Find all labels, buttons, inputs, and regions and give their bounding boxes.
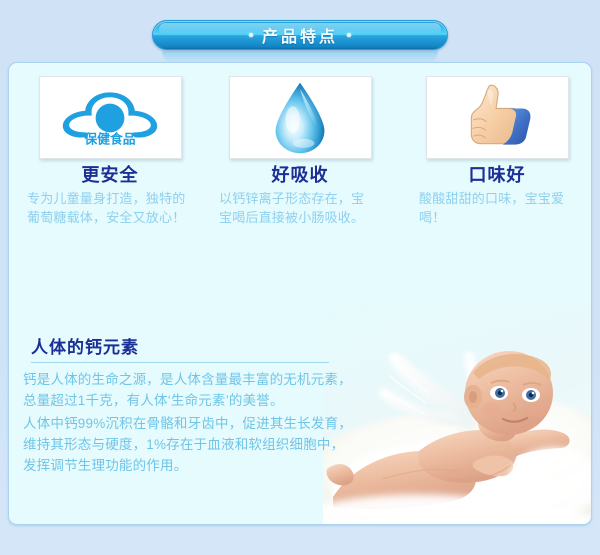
- feature-description: 酸酸甜甜的口味，宝宝爱喝！: [419, 190, 579, 228]
- feature-title: 更安全: [17, 166, 203, 186]
- feature-list: 保健食品 更安全 专为儿童量身打造，独特的葡萄糖载体，安全又放心！: [9, 63, 592, 227]
- feature-title: 好吸收: [203, 166, 397, 186]
- feature-thumbnail: [229, 76, 372, 159]
- feature-title: 口味好: [403, 166, 591, 186]
- feature-description: 以钙锌离子形态存在，宝宝喝后直接被小肠吸收。: [219, 190, 377, 228]
- bullet-dot-left-icon: [249, 33, 253, 37]
- feature-card-safety: 保健食品 更安全 专为儿童量身打造，独特的葡萄糖载体，安全又放心！: [9, 63, 203, 227]
- feature-card-taste: 口味好 酸酸甜甜的口味，宝宝爱喝！: [397, 63, 591, 227]
- bullet-dot-right-icon: [347, 33, 351, 37]
- article-paragraph: 人体中钙99%沉积在骨骼和牙齿中，促进其生长发育，维持其形态与硬度，1%存在于血…: [23, 414, 353, 477]
- blue-hat-health-food-logo-icon: 保健食品: [58, 86, 162, 150]
- feature-description: 专为儿童量身打造，独特的葡萄糖载体，安全又放心！: [27, 190, 187, 228]
- feature-card-absorption: 好吸收 以钙锌离子形态存在，宝宝喝后直接被小肠吸收。: [203, 63, 397, 227]
- baby-photo: [323, 301, 591, 525]
- banner-title: 产品特点: [262, 23, 338, 47]
- product-feature-page: 产品特点 保健食品 更安全: [0, 0, 600, 555]
- logo-caption: 保健食品: [83, 131, 135, 146]
- article-paragraph: 钙是人体的生命之源，是人体含量最丰富的无机元素，总量超过1千克，有人体‘生命元素…: [23, 370, 353, 412]
- feature-thumbnail: 保健食品: [39, 76, 182, 159]
- feature-thumbnail: [426, 76, 569, 159]
- title-underline: [31, 362, 329, 363]
- banner-pill: 产品特点: [152, 20, 448, 50]
- section-banner: 产品特点: [152, 20, 448, 64]
- article-title: 人体的钙元素: [23, 333, 363, 362]
- article-section: 人体的钙元素 钙是人体的生命之源，是人体含量最丰富的无机元素，总量超过1千克，有…: [23, 333, 363, 479]
- thumbs-up-icon: [449, 80, 545, 156]
- baby-with-angel-wings-image: [323, 301, 591, 525]
- content-panel: 保健食品 更安全 专为儿童量身打造，独特的葡萄糖载体，安全又放心！: [8, 62, 592, 525]
- water-drop-icon: [267, 80, 333, 156]
